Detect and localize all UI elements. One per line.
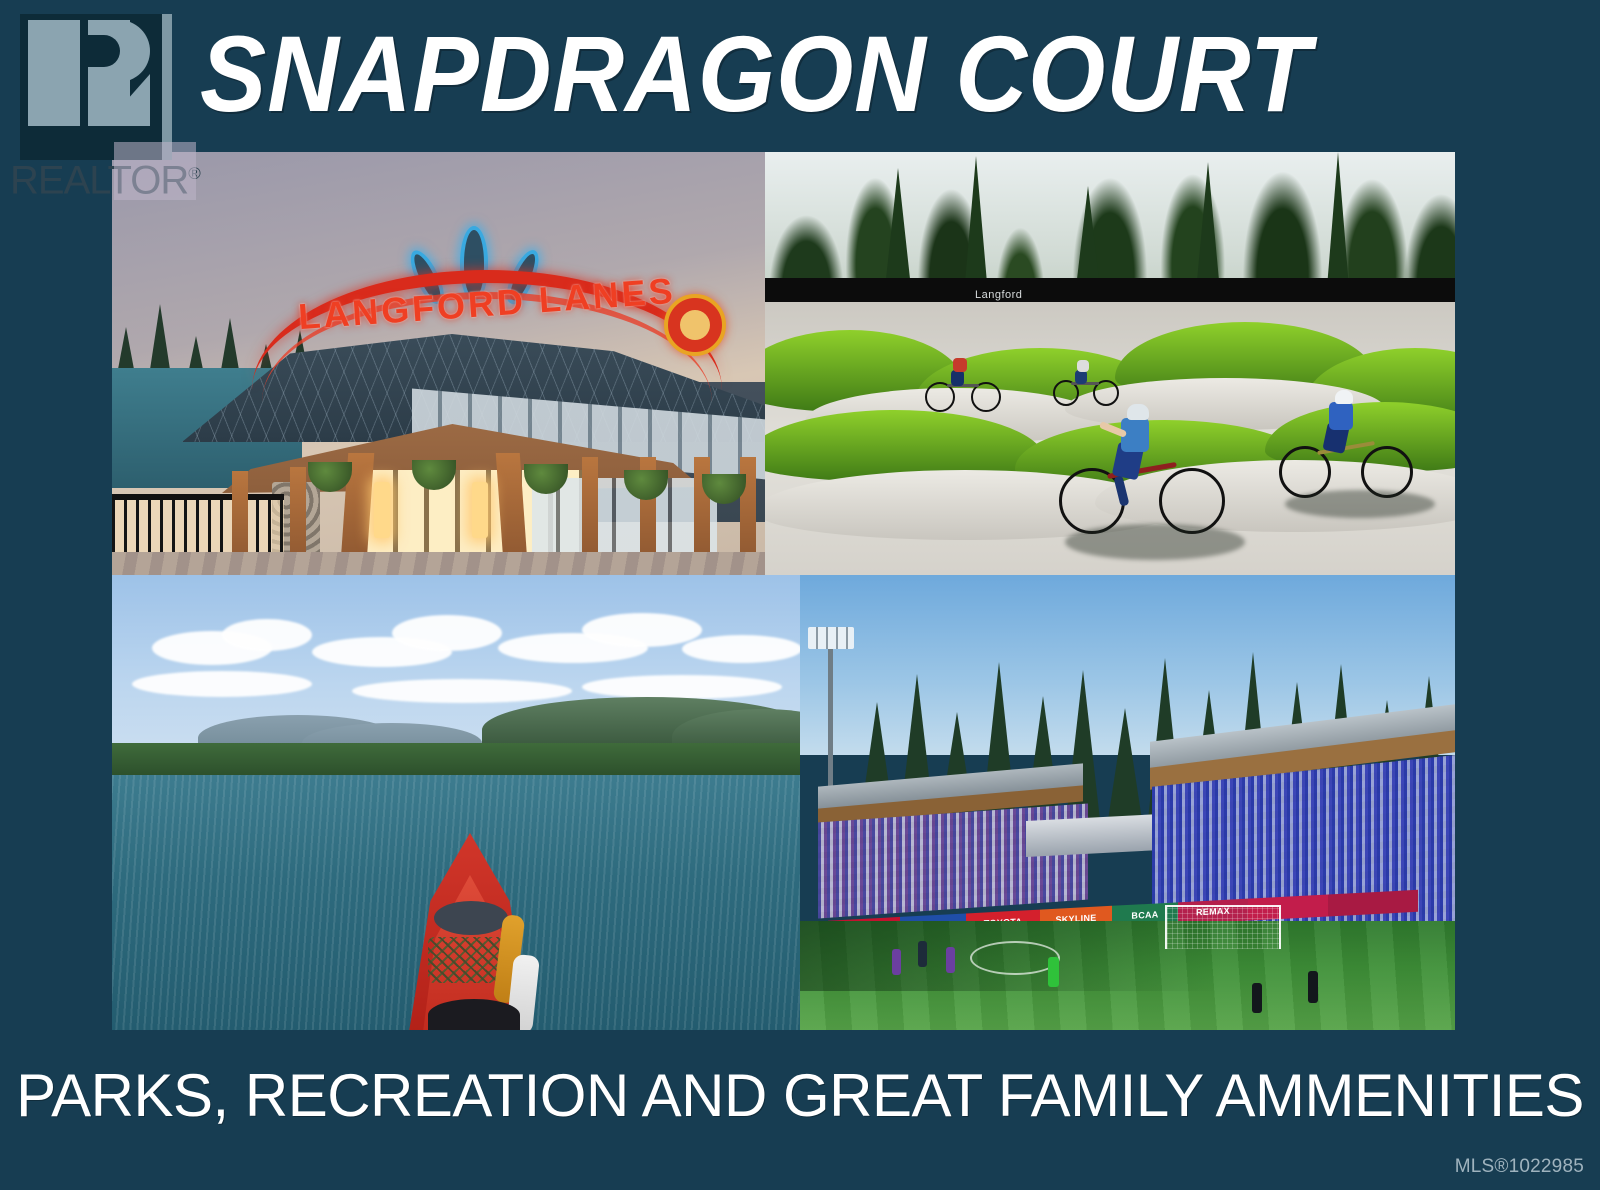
paver-walkway: [112, 552, 765, 575]
cloud: [682, 635, 800, 663]
page-title: SNAPDRAGON COURT: [200, 8, 1286, 140]
floodlight-icon: [808, 627, 854, 649]
flyer-header: REALTOR® SNAPDRAGON COURT: [0, 0, 1600, 152]
realtor-logo: REALTOR®: [4, 2, 196, 200]
cloud: [132, 671, 312, 697]
goalkeeper: [1048, 957, 1059, 987]
player: [892, 949, 901, 975]
player: [918, 941, 927, 967]
photo-lake-kayaking: [112, 575, 800, 1030]
mls-number: MLS®1022985: [1455, 1156, 1584, 1178]
flyer-caption: PARKS, RECREATION AND GREAT FAMILY AMMEN…: [0, 1058, 1600, 1134]
property-flyer: REALTOR® SNAPDRAGON COURT: [0, 0, 1600, 1190]
cyclist: [1055, 402, 1235, 542]
player: [1252, 983, 1262, 1013]
banner-langford-text: Langford: [975, 289, 1022, 301]
photo-collage: LANGFORD LANES: [112, 152, 1455, 1030]
realtor-logo-bar: [28, 20, 80, 126]
shoreline-trees: [112, 743, 800, 777]
cyclist: [1053, 354, 1123, 410]
photo-langford-lanes-bowling: LANGFORD LANES: [112, 152, 765, 575]
kayak-hatch: [434, 901, 508, 935]
cloud: [222, 619, 312, 651]
cyclist: [925, 352, 1005, 416]
kayak-cockpit: [428, 999, 520, 1030]
cloud: [582, 675, 782, 699]
entry-light: [472, 482, 488, 538]
photo-bike-pump-track: Langford: [765, 152, 1455, 575]
cloud: [582, 613, 702, 647]
player: [1308, 971, 1318, 1003]
penalty-arc: [970, 941, 1060, 975]
bowling-ball-badge-icon: [664, 294, 726, 356]
cyclist-shadow: [1285, 490, 1435, 518]
player: [946, 947, 955, 973]
photo-starlight-stadium-soccer: CIBC ASICS TOYOTA SKYLINE BCAA REMAX: [800, 575, 1455, 1030]
entry-light: [374, 482, 390, 538]
realtor-logo-leg: [104, 74, 150, 126]
cloud: [352, 679, 572, 703]
logo-overlay-haze: [114, 142, 196, 200]
cyclist-shadow: [1065, 524, 1245, 560]
realtor-logo-bowl-hole: [88, 35, 120, 67]
cloud: [392, 615, 502, 651]
goal-net: [1165, 905, 1281, 949]
